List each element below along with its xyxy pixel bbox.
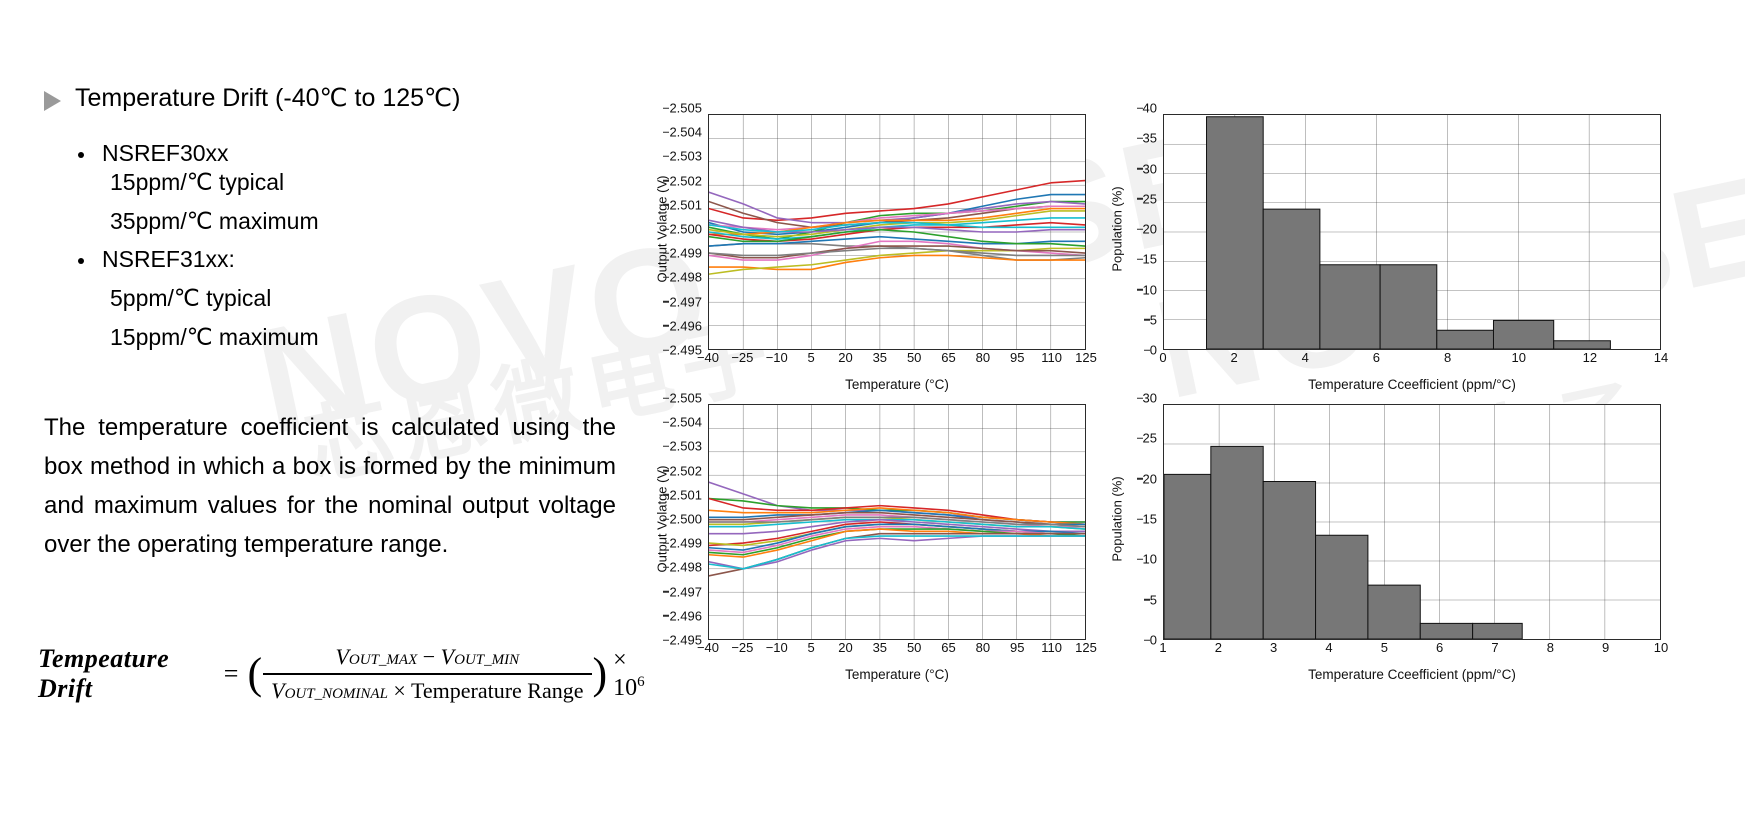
x-axis-ticks: −40−25−105203550658095110125 bbox=[708, 350, 1086, 368]
chart-nsref30xx-tempco-histogram: Population (%)05101520253035400246810121… bbox=[1105, 108, 1665, 398]
formula-v-out-min-sub: OUT_MIN bbox=[454, 652, 519, 668]
y-tick-mark bbox=[1137, 138, 1143, 140]
formula-v-out-nominal: V bbox=[271, 678, 284, 703]
slide-text-column: Temperature Drift (-40℃ to 125℃) NSREF30… bbox=[0, 0, 660, 826]
y-tick-mark bbox=[1137, 438, 1143, 440]
y-tick-mark bbox=[1137, 107, 1143, 109]
formula-lhs: Tempeature Drift bbox=[38, 644, 215, 704]
y-tick-mark bbox=[663, 156, 669, 158]
dot-bullet-icon bbox=[78, 152, 84, 158]
y-tick-label: 2.500 bbox=[669, 512, 702, 527]
y-axis-ticks: 2.4952.4962.4972.4982.4992.5002.5012.502… bbox=[650, 108, 702, 350]
y-tick-mark bbox=[663, 277, 669, 279]
formula-v-out-min: V bbox=[441, 644, 454, 669]
y-tick-mark bbox=[1137, 397, 1143, 399]
x-tick-label: 4 bbox=[1302, 350, 1309, 365]
formula-close-paren: ) bbox=[593, 652, 608, 696]
bullet-item-label: NSREF31xx: bbox=[102, 245, 235, 273]
x-tick-label: 8 bbox=[1547, 640, 1554, 655]
y-tick-label: 30 bbox=[1143, 161, 1157, 176]
formula-equals: = bbox=[224, 659, 239, 689]
x-tick-label: 1 bbox=[1159, 640, 1166, 655]
y-tick-mark bbox=[663, 421, 669, 423]
x-tick-label: −40 bbox=[697, 640, 719, 655]
x-axis-ticks: 02468101214 bbox=[1163, 350, 1661, 368]
x-tick-label: 2 bbox=[1231, 350, 1238, 365]
x-tick-label: −40 bbox=[697, 350, 719, 365]
y-tick-label: 5 bbox=[1150, 592, 1157, 607]
y-tick-mark bbox=[663, 470, 669, 472]
y-tick-label: 2.497 bbox=[669, 294, 702, 309]
y-tick-mark bbox=[663, 180, 669, 182]
y-tick-label: 2.502 bbox=[669, 173, 702, 188]
y-tick-mark bbox=[663, 131, 669, 133]
x-tick-label: 50 bbox=[907, 350, 921, 365]
x-tick-label: 12 bbox=[1583, 350, 1597, 365]
y-tick-label: 2.497 bbox=[669, 584, 702, 599]
y-tick-mark bbox=[663, 397, 669, 399]
x-tick-label: 10 bbox=[1511, 350, 1525, 365]
y-axis-ticks: 2.4952.4962.4972.4982.4992.5002.5012.502… bbox=[650, 398, 702, 640]
formula-temperature-range: Temperature Range bbox=[411, 678, 584, 703]
formula-open-paren: ( bbox=[247, 652, 262, 696]
y-tick-label: 25 bbox=[1143, 191, 1157, 206]
y-tick-mark bbox=[663, 494, 669, 496]
y-tick-mark bbox=[663, 301, 669, 303]
bullet-subline: 15ppm/℃ typical bbox=[110, 168, 284, 196]
x-tick-label: −10 bbox=[766, 350, 788, 365]
y-tick-mark bbox=[663, 204, 669, 206]
y-tick-mark bbox=[1137, 168, 1143, 170]
body-paragraph: The temperature coefficient is calculate… bbox=[44, 408, 616, 564]
y-tick-mark bbox=[1144, 349, 1150, 351]
y-tick-label: 10 bbox=[1143, 282, 1157, 297]
x-tick-label: 10 bbox=[1654, 640, 1668, 655]
bullet-subline: 5ppm/℃ typical bbox=[110, 284, 271, 312]
y-tick-mark bbox=[663, 518, 669, 520]
x-tick-label: 3 bbox=[1270, 640, 1277, 655]
plot-area bbox=[708, 114, 1086, 350]
x-tick-label: −10 bbox=[766, 640, 788, 655]
y-tick-mark bbox=[1137, 518, 1143, 520]
y-tick-label: 2.503 bbox=[669, 149, 702, 164]
y-tick-mark bbox=[1137, 478, 1143, 480]
formula-v-out-max-sub: OUT_MAX bbox=[349, 652, 417, 668]
bullet-level1-label: Temperature Drift (-40℃ to 125℃) bbox=[75, 83, 460, 113]
y-tick-label: 2.496 bbox=[669, 318, 702, 333]
y-tick-label: 25 bbox=[1143, 431, 1157, 446]
x-axis-label: Temperature (°C) bbox=[708, 667, 1086, 682]
x-tick-label: 5 bbox=[807, 350, 814, 365]
y-tick-label: 0 bbox=[1150, 343, 1157, 358]
chart-nsref31xx-tempco-histogram: Population (%)05101520253012345678910Tem… bbox=[1105, 398, 1665, 688]
x-tick-label: 6 bbox=[1373, 350, 1380, 365]
x-axis-label: Temperature (°C) bbox=[708, 377, 1086, 392]
formula-times: × bbox=[393, 678, 405, 703]
bullet-item-label: NSREF30xx bbox=[102, 139, 229, 167]
y-tick-mark bbox=[663, 349, 669, 351]
y-axis-ticks: 0510152025303540 bbox=[1105, 108, 1157, 350]
x-tick-label: 125 bbox=[1075, 640, 1097, 655]
formula-tail-times: × bbox=[613, 647, 627, 673]
x-tick-label: 8 bbox=[1444, 350, 1451, 365]
plot-area bbox=[708, 404, 1086, 640]
y-tick-mark bbox=[663, 615, 669, 617]
y-tick-label: 15 bbox=[1143, 252, 1157, 267]
bullet-level1-temperature-drift: Temperature Drift (-40℃ to 125℃) bbox=[44, 83, 460, 113]
y-tick-label: 5 bbox=[1150, 312, 1157, 327]
chart-nsref31xx-drift: Output Volatge (V)2.4952.4962.4972.4982.… bbox=[650, 398, 1090, 688]
formula-v-out-max: V bbox=[335, 644, 348, 669]
x-tick-label: −25 bbox=[731, 350, 753, 365]
y-tick-label: 35 bbox=[1143, 131, 1157, 146]
y-tick-mark bbox=[663, 252, 669, 254]
y-tick-label: 2.498 bbox=[669, 560, 702, 575]
y-tick-mark bbox=[663, 325, 669, 327]
y-tick-mark bbox=[663, 542, 669, 544]
y-tick-mark bbox=[1137, 228, 1143, 230]
x-tick-label: 2 bbox=[1215, 640, 1222, 655]
chart-nsref30xx-drift: Output Volatge (V)2.4952.4962.4972.4982.… bbox=[650, 108, 1090, 398]
formula-tail-base: 10 bbox=[613, 675, 637, 701]
bullet-subline: 35ppm/℃ maximum bbox=[110, 207, 319, 235]
x-tick-label: 20 bbox=[838, 640, 852, 655]
y-tick-mark bbox=[1144, 599, 1150, 601]
y-tick-mark bbox=[663, 567, 669, 569]
plot-area bbox=[1163, 114, 1661, 350]
y-tick-label: 20 bbox=[1143, 471, 1157, 486]
y-tick-mark bbox=[663, 591, 669, 593]
x-tick-label: 35 bbox=[873, 640, 887, 655]
x-tick-label: 14 bbox=[1654, 350, 1668, 365]
x-tick-label: 80 bbox=[976, 350, 990, 365]
bullet-item-nsref31xx: NSREF31xx: bbox=[78, 245, 235, 273]
x-tick-label: 6 bbox=[1436, 640, 1443, 655]
y-tick-mark bbox=[1144, 639, 1150, 641]
y-tick-label: 2.498 bbox=[669, 270, 702, 285]
x-axis-label: Temperature Cceefficient (ppm/°C) bbox=[1163, 667, 1661, 682]
x-tick-label: −25 bbox=[731, 640, 753, 655]
y-tick-label: 0 bbox=[1150, 633, 1157, 648]
dot-bullet-icon bbox=[78, 258, 84, 264]
y-tick-mark bbox=[1144, 319, 1150, 321]
x-tick-label: 80 bbox=[976, 640, 990, 655]
x-tick-label: 95 bbox=[1010, 350, 1024, 365]
x-tick-label: 95 bbox=[1010, 640, 1024, 655]
y-tick-label: 30 bbox=[1143, 391, 1157, 406]
x-tick-label: 110 bbox=[1041, 350, 1062, 365]
triangle-bullet-icon bbox=[44, 91, 61, 111]
y-tick-label: 2.496 bbox=[669, 608, 702, 623]
x-axis-ticks: 12345678910 bbox=[1163, 640, 1661, 658]
y-tick-mark bbox=[1137, 289, 1143, 291]
y-tick-label: 40 bbox=[1143, 101, 1157, 116]
y-tick-mark bbox=[663, 446, 669, 448]
formula-minus: − bbox=[423, 644, 435, 669]
x-axis-label: Temperature Cceefficient (ppm/°C) bbox=[1163, 377, 1661, 392]
y-tick-mark bbox=[663, 639, 669, 641]
formula-tail-exponent: 6 bbox=[637, 674, 645, 690]
x-tick-label: 110 bbox=[1041, 640, 1062, 655]
y-tick-label: 2.501 bbox=[669, 487, 702, 502]
x-tick-label: 65 bbox=[941, 350, 955, 365]
y-tick-label: 2.503 bbox=[669, 439, 702, 454]
y-tick-label: 2.500 bbox=[669, 222, 702, 237]
plot-area bbox=[1163, 404, 1661, 640]
x-tick-label: 125 bbox=[1075, 350, 1097, 365]
y-tick-label: 15 bbox=[1143, 512, 1157, 527]
y-tick-label: 2.501 bbox=[669, 197, 702, 212]
formula-numerator: VOUT_MAX − VOUT_MIN bbox=[327, 644, 527, 673]
y-tick-label: 20 bbox=[1143, 222, 1157, 237]
x-tick-label: 0 bbox=[1159, 350, 1166, 365]
formula-v-out-nominal-sub: OUT_NOMINAL bbox=[285, 686, 388, 702]
x-tick-label: 5 bbox=[1381, 640, 1388, 655]
charts-grid: Output Volatge (V)2.4952.4962.4972.4982.… bbox=[650, 0, 1745, 826]
x-tick-label: 9 bbox=[1602, 640, 1609, 655]
y-tick-label: 2.502 bbox=[669, 463, 702, 478]
temperature-drift-formula: Tempeature Drift = ( VOUT_MAX − VOUT_MIN… bbox=[38, 644, 660, 704]
y-tick-mark bbox=[1137, 259, 1143, 261]
y-tick-mark bbox=[663, 107, 669, 109]
bullet-subline: 15ppm/℃ maximum bbox=[110, 323, 319, 351]
x-tick-label: 7 bbox=[1491, 640, 1498, 655]
x-tick-label: 35 bbox=[873, 350, 887, 365]
y-tick-label: 10 bbox=[1143, 552, 1157, 567]
x-axis-ticks: −40−25−105203550658095110125 bbox=[708, 640, 1086, 658]
x-tick-label: 50 bbox=[907, 640, 921, 655]
y-tick-mark bbox=[1137, 198, 1143, 200]
x-tick-label: 5 bbox=[807, 640, 814, 655]
bullet-item-nsref30xx: NSREF30xx bbox=[78, 139, 229, 167]
formula-fraction: VOUT_MAX − VOUT_MIN VOUT_NOMINAL × Tempe… bbox=[263, 644, 591, 704]
x-tick-label: 65 bbox=[941, 640, 955, 655]
y-tick-label: 2.504 bbox=[669, 125, 702, 140]
y-tick-label: 2.505 bbox=[669, 101, 702, 116]
x-tick-label: 4 bbox=[1325, 640, 1332, 655]
formula-denominator: VOUT_NOMINAL × Temperature Range bbox=[263, 673, 591, 704]
y-tick-label: 2.505 bbox=[669, 391, 702, 406]
y-tick-label: 2.504 bbox=[669, 415, 702, 430]
y-axis-ticks: 051015202530 bbox=[1105, 398, 1157, 640]
x-tick-label: 20 bbox=[838, 350, 852, 365]
y-tick-label: 2.499 bbox=[669, 246, 702, 261]
y-tick-mark bbox=[663, 228, 669, 230]
y-tick-mark bbox=[1137, 559, 1143, 561]
y-tick-label: 2.499 bbox=[669, 536, 702, 551]
